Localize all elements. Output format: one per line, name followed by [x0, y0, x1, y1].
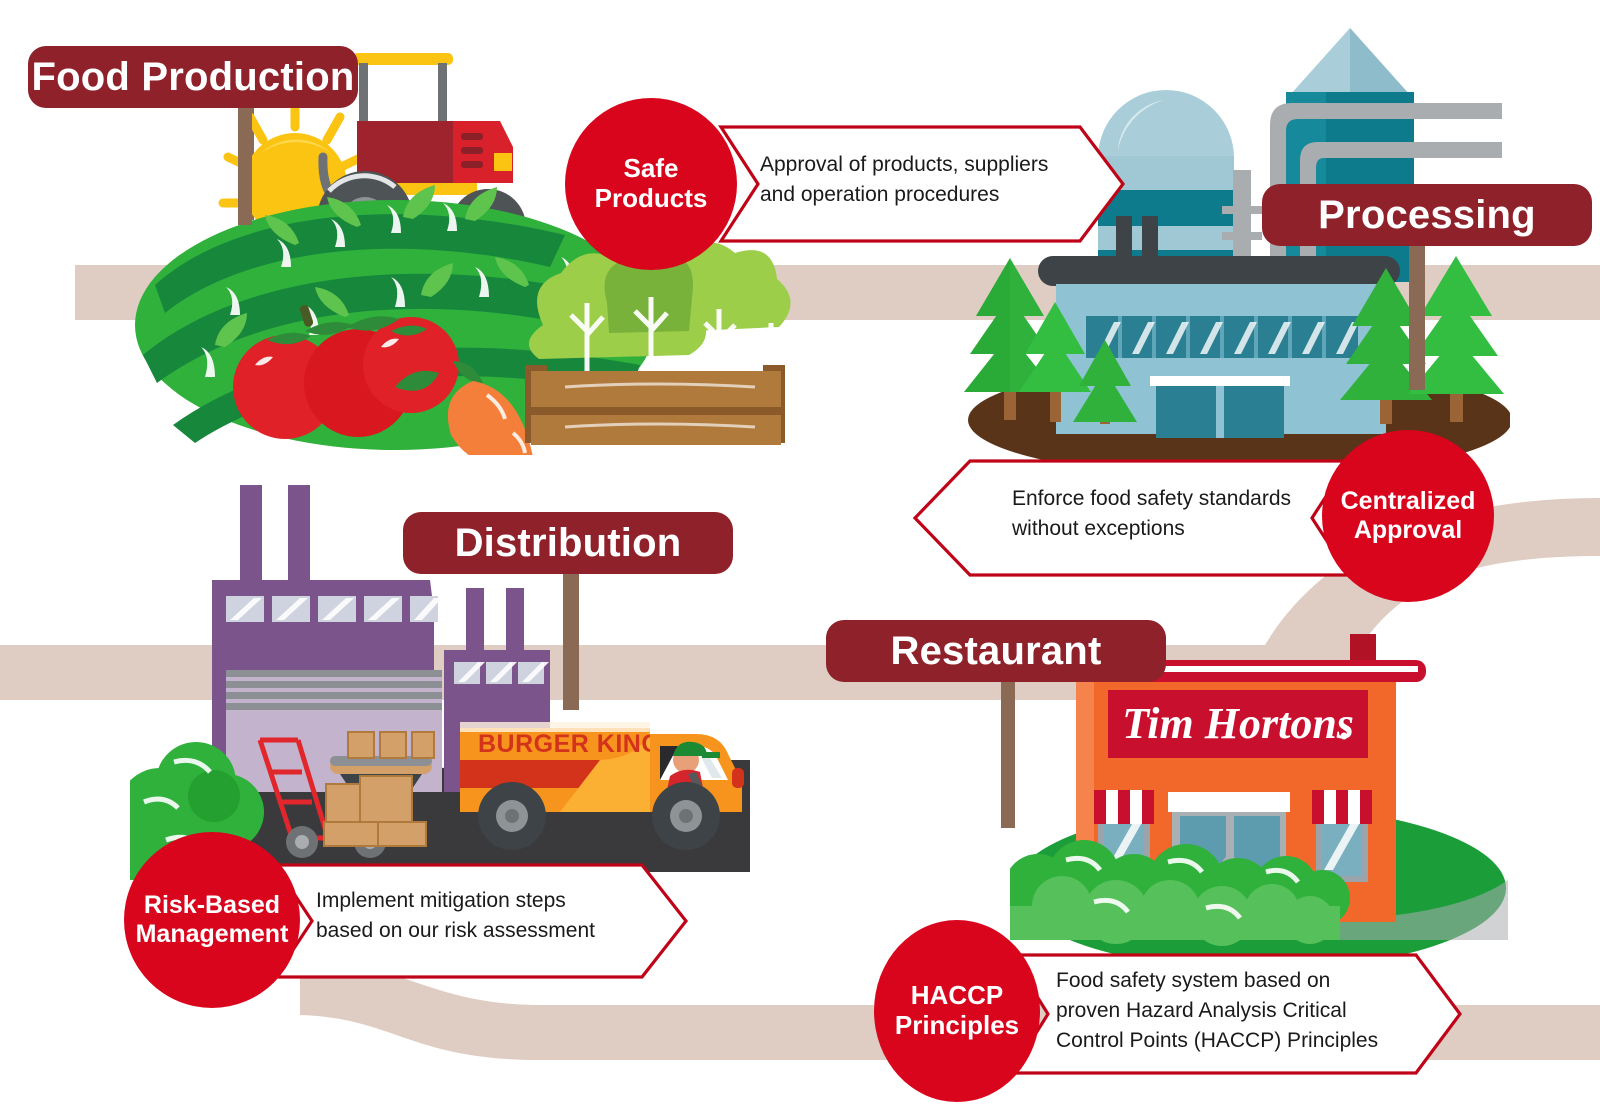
callout-badge-centralized-approval[interactable]: Centralized Approval — [1322, 430, 1494, 602]
stage-label-text: Restaurant — [891, 631, 1102, 671]
restaurant-sign-text: Tim Hortons — [1122, 699, 1354, 748]
boxes — [324, 776, 426, 846]
awning-right — [1312, 790, 1372, 824]
stage-label-food-production[interactable]: Food Production — [28, 46, 358, 108]
infographic-canvas: BURGER KING — [0, 0, 1600, 1118]
processing-plant-scene — [950, 20, 1510, 480]
badge-line-2: Products — [595, 184, 708, 214]
callout-text: Implement mitigation steps based on our … — [316, 886, 656, 946]
badge-line-2: Approval — [1354, 516, 1462, 545]
callout-badge-safe-products[interactable]: Safe Products — [565, 98, 737, 270]
badge-line-1: Risk-Based — [144, 891, 280, 920]
stage-label-text: Processing — [1318, 195, 1536, 235]
awning-left — [1094, 790, 1154, 824]
callout-text: Food safety system based on proven Hazar… — [1056, 966, 1426, 1055]
callout-safe-products[interactable]: Approval of products, suppliers and oper… — [718, 124, 1130, 244]
lettuce-crate-icon — [525, 242, 791, 445]
stage-label-restaurant[interactable]: Restaurant — [826, 620, 1166, 682]
badge-line-1: Centralized — [1341, 487, 1476, 516]
callout-badge-risk-based-management[interactable]: Risk-Based Management — [124, 832, 300, 1008]
callout-badge-haccp-principles[interactable]: HACCP Principles — [874, 920, 1040, 1102]
post-distribution — [563, 560, 579, 710]
post-food-production — [238, 95, 252, 225]
callout-text: Approval of products, suppliers and oper… — [760, 150, 1090, 210]
callout-risk-based-management[interactable]: Implement mitigation steps based on our … — [272, 862, 692, 980]
post-restaurant — [1001, 678, 1015, 828]
badge-line-2: Principles — [895, 1011, 1019, 1041]
post-processing — [1409, 230, 1425, 390]
stage-label-text: Food Production — [32, 57, 355, 97]
badge-line-2: Management — [136, 920, 289, 949]
window-right — [1312, 790, 1372, 882]
stage-label-processing[interactable]: Processing — [1262, 184, 1592, 246]
callout-haccp-principles[interactable]: Food safety system based on proven Hazar… — [1008, 952, 1466, 1076]
restaurant-sign-mark — [1341, 733, 1348, 740]
callout-centralized-approval[interactable]: Enforce food safety standards without ex… — [912, 458, 1352, 578]
badge-line-1: HACCP — [911, 981, 1003, 1011]
stage-label-distribution[interactable]: Distribution — [403, 512, 733, 574]
stage-label-text: Distribution — [455, 523, 682, 563]
badge-line-1: Safe — [624, 154, 679, 184]
callout-text: Enforce food safety standards without ex… — [1012, 484, 1342, 544]
truck-brand-text: BURGER KING — [478, 730, 661, 758]
